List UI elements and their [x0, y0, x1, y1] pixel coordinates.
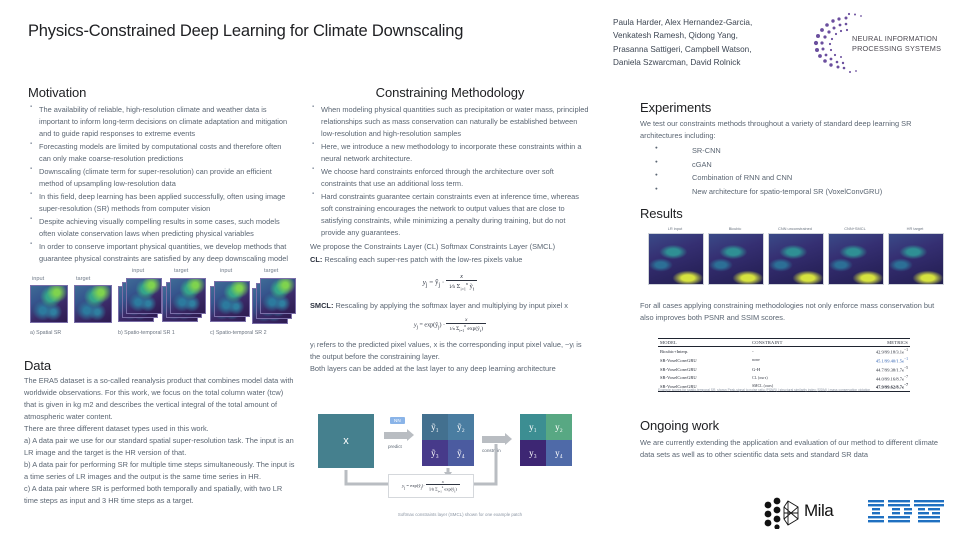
list-item: Combination of RNN and CNN — [666, 172, 948, 183]
list-item: We choose hard constraints enforced thro… — [321, 166, 590, 190]
ongoing-heading: Ongoing work — [640, 418, 945, 433]
motivation-bullets: The availability of reliable, high-resol… — [28, 104, 290, 265]
result-image — [888, 233, 944, 285]
cell-constraint: none — [750, 356, 828, 365]
table-row: SR-VoxelConvGRU none 45.1/99.40/1.5e−1 — [658, 356, 910, 365]
result-image — [708, 233, 764, 285]
ongoing-work-section: Ongoing work We are currently extending … — [640, 418, 945, 461]
result-label: HR target — [888, 226, 942, 231]
ibm-wordmark-icon — [866, 496, 948, 528]
diagram-formula: yj = exp(ỹj)· x 1⁄n Σi=1n exp(ỹi) — [402, 479, 460, 493]
results-image-strip: LR input Bicubic CNN unconstrained CNN+S… — [648, 226, 948, 288]
results-table-wrapper: Model Constraint Metrics Bicubic+Interp.… — [658, 338, 910, 392]
result-label: CNN unconstrained — [768, 226, 822, 231]
cell-constraint: CL (ours) — [750, 373, 828, 382]
neurips-line2: PROCESSING SYSTEMS — [852, 44, 941, 54]
metric-exponent: −1 — [904, 348, 908, 352]
cell-metrics: 45.1/99.40/1.5e−1 — [828, 356, 910, 365]
list-item: New architecture for spatio-temporal SR … — [666, 186, 948, 197]
results-table: Model Constraint Metrics Bicubic+Interp.… — [658, 338, 910, 391]
figure-caption: a) Spatial SR — [30, 330, 61, 336]
cell-model: SR-VoxelConvGRU — [658, 356, 750, 365]
author-list: Paula Harder, Alex Hernandez-Garcia, Ven… — [613, 16, 798, 69]
metric-exponent: −7 — [904, 383, 908, 387]
table-caption: Example scores for spatio-temporal SR, s… — [658, 388, 938, 392]
list-item: cGAN — [666, 159, 948, 170]
diagram-formula-box: yj = exp(ỹj)· x 1⁄n Σi=1n exp(ỹi) — [388, 474, 474, 498]
table-header-metrics: Metrics — [828, 339, 910, 347]
smcl-label: SMCL: — [310, 301, 333, 310]
table-row: SR-VoxelConvGRU CL (ours) 44.0/99.16/8.7… — [658, 373, 910, 382]
notation-note: yᵢ refers to the predicted pixel values,… — [310, 339, 590, 363]
page-title: Physics-Constrained Deep Learning for Cl… — [28, 22, 588, 42]
list-item: SR-CNN — [666, 145, 948, 156]
sample-image — [74, 285, 112, 323]
results-heading: Results — [640, 206, 948, 221]
metric-value: 44.7/99.38/1.7e — [876, 367, 904, 372]
result-sample: CNN unconstrained — [768, 226, 822, 285]
column-middle: Constraining Methodology When modeling p… — [310, 85, 590, 375]
ibm-logo — [866, 496, 948, 528]
list-item: In order to conserve important physical … — [39, 241, 290, 265]
neurips-logo-text: NEURAL INFORMATION PROCESSING SYSTEMS — [852, 34, 941, 54]
constraints-proposal: We propose the Constraints Layer (CL) So… — [310, 241, 590, 253]
metric-exponent: −7 — [904, 375, 908, 379]
result-sample: CNN+SMCL — [828, 226, 882, 285]
result-label: CNN+SMCL — [828, 226, 882, 231]
list-item: The availability of reliable, high-resol… — [39, 104, 290, 140]
author-line: Paula Harder, Alex Hernandez-Garcia, — [613, 16, 798, 29]
result-sample: HR target — [888, 226, 942, 285]
mila-wordmark: Mila — [804, 501, 833, 521]
list-item: Hard constraints guarantee certain const… — [321, 191, 590, 239]
figure-caption: c) Spatio-temporal SR 2 — [210, 330, 267, 336]
figure-label-target: target — [76, 276, 90, 282]
cell-model: Bicubic+Interp. — [658, 347, 750, 356]
metric-value: 44.0/99.16/8.7e — [876, 376, 904, 381]
cell-metrics: 44.7/99.38/1.7e−5 — [828, 365, 910, 374]
list-item: Forecasting models are limited by comput… — [39, 141, 290, 165]
experiments-list: SR-CNN cGAN Combination of RNN and CNN N… — [640, 145, 948, 197]
data-paragraph: b) A data pair for performing SR for mul… — [24, 459, 296, 483]
data-heading: Data — [24, 358, 296, 373]
list-item: Despite achieving visually compelling re… — [39, 216, 290, 240]
mila-network-icon — [762, 497, 804, 529]
table-row: Bicubic+Interp. - 42.9/99.18/3.1e−1 — [658, 347, 910, 356]
metric-exponent: −5 — [904, 366, 908, 370]
data-paragraph: The ERA5 dataset is a so-called reanalys… — [24, 375, 296, 423]
list-item: When modeling physical quantities such a… — [321, 104, 590, 140]
cell-metrics: 42.9/99.18/3.1e−1 — [828, 347, 910, 356]
sample-image — [170, 278, 206, 314]
smcl-text: Rescaling by applying the softmax layer … — [333, 301, 568, 310]
neurips-line1: NEURAL INFORMATION — [852, 34, 941, 44]
figure-label-input: input — [32, 276, 44, 282]
sample-image — [126, 278, 162, 314]
cell-model: SR-VoxelConvGRU — [658, 365, 750, 374]
figure-label-input: input — [220, 268, 232, 274]
list-item: Here, we introduce a new methodology to … — [321, 141, 590, 165]
column-right: Experiments We test our constraints meth… — [640, 100, 948, 221]
result-image — [828, 233, 884, 285]
result-label: LR input — [648, 226, 702, 231]
sample-image — [30, 285, 68, 323]
poster-canvas: Physics-Constrained Deep Learning for Cl… — [0, 0, 960, 540]
list-item: In this field, deep learning has been ap… — [39, 191, 290, 215]
author-line: Prasanna Sattigeri, Campbell Watson, — [613, 43, 798, 56]
figure-caption: b) Spatio-temporal SR 1 — [118, 330, 175, 336]
figure-label-target: target — [174, 268, 188, 274]
table-header-constraint: Constraint — [750, 339, 828, 347]
sample-image — [260, 278, 296, 314]
experiments-intro: We test our constraints methods througho… — [640, 118, 948, 142]
data-paragraph: a) A data pair we use for our standard s… — [24, 435, 296, 459]
smcl-description: SMCL: Rescaling by applying the softmax … — [310, 300, 590, 312]
smcl-diagram: x NN predict ỹ₁ ỹ₂ ỹ₃ ỹ₄ constrain y₁ y₂… — [310, 404, 610, 504]
figure-label-input: input — [132, 268, 144, 274]
cl-text: Rescaling each super-res patch with the … — [322, 255, 522, 264]
mila-logo: Mila — [762, 497, 846, 529]
metric-exponent: −1 — [904, 357, 908, 361]
cell-model: SR-VoxelConvGRU — [658, 373, 750, 382]
dataset-figure: input target a) Spatial SR input target … — [24, 268, 304, 352]
cl-formula: yj = ỹj · x 1⁄n Σi=1n ỹi — [310, 273, 590, 292]
sample-image — [214, 281, 250, 317]
column-left: Motivation The availability of reliable,… — [28, 85, 290, 266]
data-paragraph: c) A data pair where SR is performed bot… — [24, 483, 296, 507]
neurips-logo: NEURAL INFORMATION PROCESSING SYSTEMS — [806, 12, 952, 74]
result-image — [768, 233, 824, 285]
ongoing-text: We are currently extending the applicati… — [640, 437, 945, 461]
result-image — [648, 233, 704, 285]
result-sample: LR input — [648, 226, 702, 285]
motivation-heading: Motivation — [28, 85, 290, 100]
cell-constraint: - — [750, 347, 828, 356]
usage-note: Both layers can be added at the last lay… — [310, 363, 590, 375]
cell-metrics: 44.0/99.16/8.7e−7 — [828, 373, 910, 382]
methodology-bullets: When modeling physical quantities such a… — [310, 104, 590, 239]
figure-label-target: target — [264, 268, 278, 274]
smcl-formula: yj = exp(ỹj) · x 1⁄n Σi=1n exp(ỹi) — [310, 317, 590, 333]
result-sample: Bicubic — [708, 226, 762, 285]
author-line: Venkatesh Ramesh, Qidong Yang, — [613, 29, 798, 42]
table-row: SR-VoxelConvGRU G-H 44.7/99.38/1.7e−5 — [658, 365, 910, 374]
cl-label: CL: — [310, 255, 322, 264]
metric-value: 45.1/99.40/1.5e — [876, 359, 904, 364]
result-label: Bicubic — [708, 226, 762, 231]
author-line: Daniela Szwarcman, David Rolnick — [613, 56, 798, 69]
cell-constraint: G-H — [750, 365, 828, 374]
metric-value: 42.9/99.18/3.1e — [876, 350, 904, 355]
experiments-heading: Experiments — [640, 100, 948, 115]
list-item: Downscaling (climate term for super-reso… — [39, 166, 290, 190]
results-summary: For all cases applying constraining meth… — [640, 300, 940, 324]
methodology-heading: Constraining Methodology — [310, 85, 590, 100]
data-paragraph: There are three different dataset types … — [24, 423, 296, 435]
diagram-caption: Softmax constraints layer (SMCL) shown f… — [310, 512, 610, 517]
table-header-model: Model — [658, 339, 750, 347]
data-section: Data The ERA5 dataset is a so-called rea… — [24, 358, 296, 507]
cl-description: CL: Rescaling each super-res patch with … — [310, 254, 590, 266]
